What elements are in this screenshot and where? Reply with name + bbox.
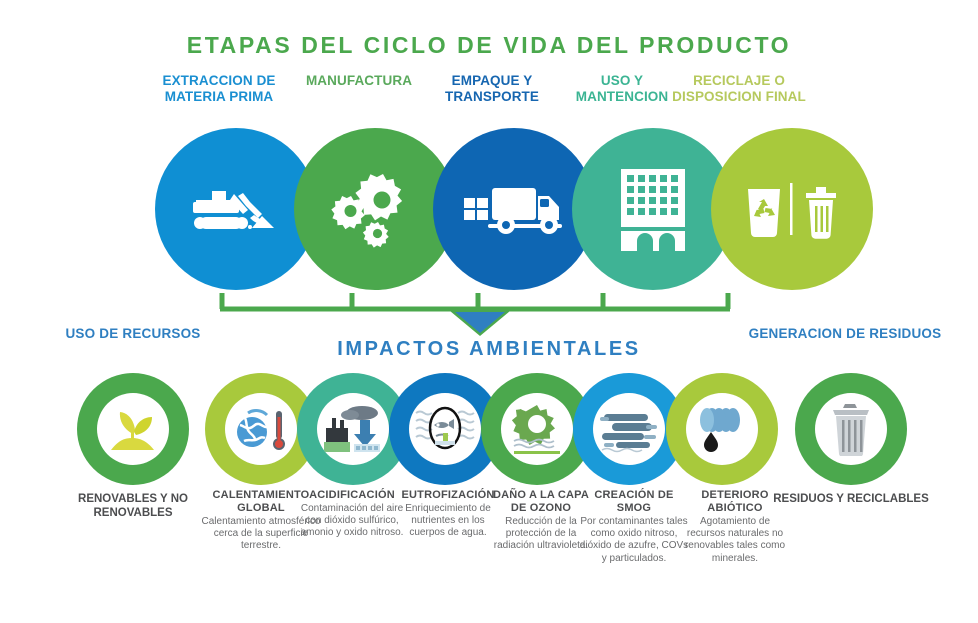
infographic-canvas: ETAPAS DEL CICLO DE VIDA DEL PRODUCTO EX… xyxy=(0,0,978,623)
sprout-icon xyxy=(105,404,161,454)
truck-icon xyxy=(462,180,566,238)
sun-ozone-icon xyxy=(508,403,566,455)
resources-circle xyxy=(77,373,189,485)
water-life-icon xyxy=(414,403,476,455)
caption-creacion-smog: CREACIÓN DE SMOG Por contaminantes tales… xyxy=(578,489,690,565)
impact-circle-deterioro-abiotico xyxy=(666,373,778,485)
waste-circle xyxy=(795,373,907,485)
stage-circle-extraccion xyxy=(155,128,317,290)
impact-icon-well xyxy=(317,393,389,465)
stage-label-manufactura: MANUFACTURA xyxy=(290,73,428,89)
impact-icon-well xyxy=(686,393,758,465)
impact-icon-row xyxy=(0,373,978,491)
trash-can-icon xyxy=(827,402,875,456)
caption-body: Por contaminantes tales como oxido nitro… xyxy=(578,516,690,565)
stage-circle-uso xyxy=(572,128,734,290)
caption-title: EUTROFIZACIÓN xyxy=(394,489,502,502)
stage-label-extraccion: EXTRACCION DE MATERIA PRIMA xyxy=(150,73,288,105)
recycle-trash-icon xyxy=(742,179,842,239)
stage-label-empaque: EMPAQUE Y TRANSPORTE xyxy=(423,73,561,105)
building-icon xyxy=(617,167,689,251)
impact-icon-well xyxy=(225,393,297,465)
excavator-icon xyxy=(188,178,284,240)
caption-title: ACIDIFICACIÓN xyxy=(297,489,407,502)
caption-acidificacion: ACIDIFICACIÓN Contaminación del aire con… xyxy=(297,489,407,540)
stage-circle-reciclaje xyxy=(711,128,873,290)
impact-icon-well xyxy=(409,393,481,465)
caption-eutrofizacion: EUTROFIZACIÓN Enriquecimiento de nutrien… xyxy=(394,489,502,540)
oil-drop-icon xyxy=(693,404,751,454)
stage-label-reciclaje: RECICLAJE O DISPOSICION FINAL xyxy=(670,73,808,105)
lifecycle-stage-labels: EXTRACCION DE MATERIA PRIMA MANUFACTURA … xyxy=(150,73,840,117)
waste-icon-well xyxy=(815,393,887,465)
caption-title: CREACIÓN DE SMOG xyxy=(578,489,690,515)
factory-smoke-icon xyxy=(322,404,384,454)
smog-icon xyxy=(598,404,660,454)
impact-icon-well xyxy=(501,393,573,465)
resources-icon-well xyxy=(97,393,169,465)
lifecycle-stage-circles xyxy=(0,128,978,290)
stage-circle-manufactura xyxy=(294,128,456,290)
caption-body: Enriquecimiento de nutrientes en los cue… xyxy=(394,503,502,540)
globe-thermometer-icon xyxy=(232,405,290,453)
caption-body: Agotamiento de recursos naturales no ren… xyxy=(684,516,786,565)
stage-circle-empaque xyxy=(433,128,595,290)
impact-icon-well xyxy=(593,393,665,465)
page-title: ETAPAS DEL CICLO DE VIDA DEL PRODUCTO xyxy=(0,32,978,59)
gears-icon xyxy=(331,170,419,248)
section-heading-generacion-residuos: GENERACION DE RESIDUOS xyxy=(745,325,945,342)
caption-residuos: RESIDUOS Y RECICLABLES xyxy=(766,492,936,506)
caption-body: Contaminación del aire con dióxido sulfú… xyxy=(297,503,407,540)
